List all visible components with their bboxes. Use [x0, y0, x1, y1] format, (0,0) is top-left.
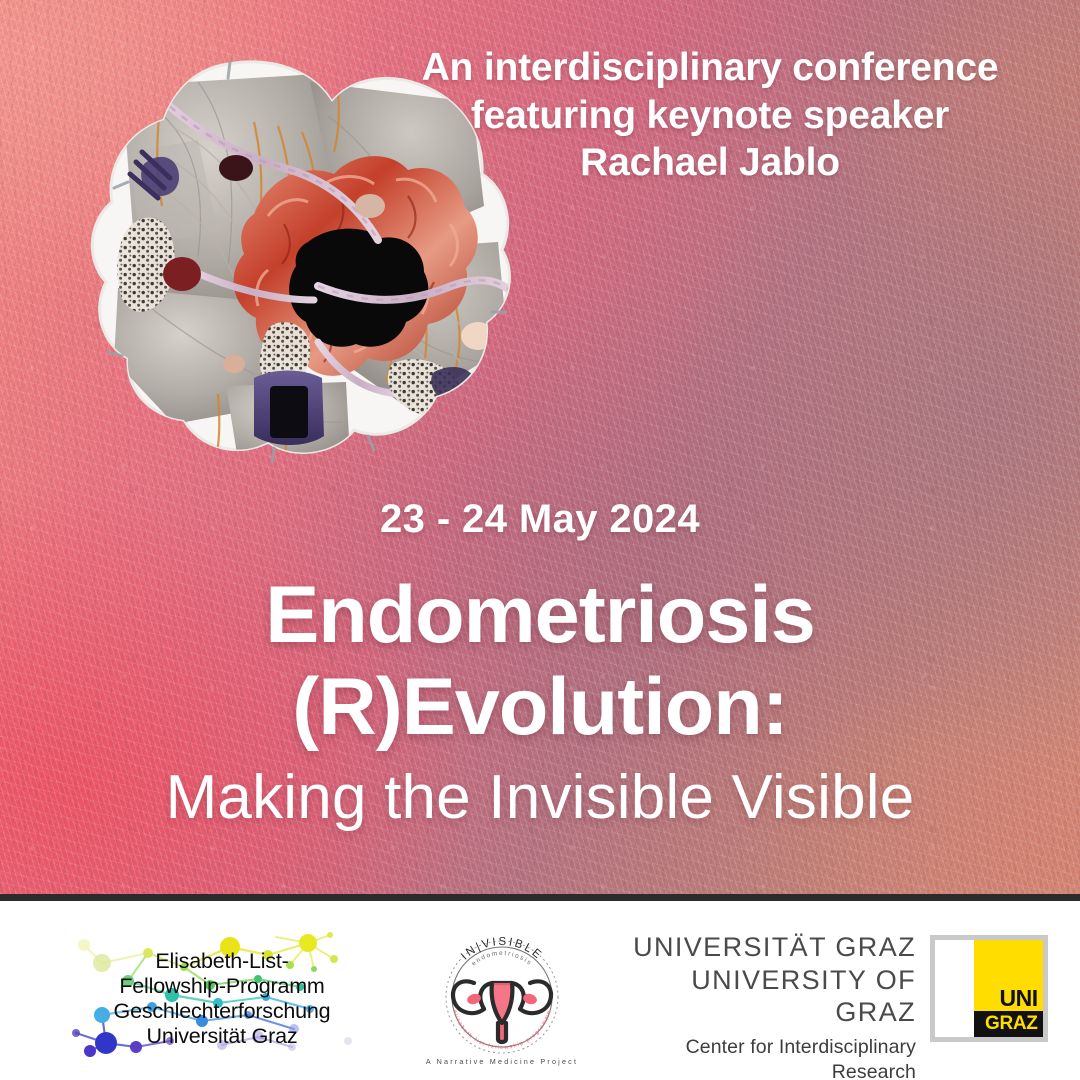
conference-poster: An interdisciplinary conference featurin…	[0, 0, 1080, 1080]
page-subtitle: Making the Invisible Visible	[0, 762, 1080, 833]
page-title: Endometriosis (R)Evolution:	[0, 570, 1080, 753]
elfp-line-2: Fellowship-Programm	[62, 974, 382, 999]
conference-header: An interdisciplinary conference featurin…	[370, 44, 1050, 187]
elfp-line-3: Geschlechterforschung	[62, 999, 382, 1024]
header-line-2: featuring keynote speaker	[370, 92, 1050, 140]
header-line-3: Rachael Jablo	[370, 139, 1050, 187]
sponsor-logo-bar: Elisabeth-List- Fellowship-Programm Gesc…	[0, 901, 1080, 1080]
unigraz-mark-uni-text: UNI	[978, 987, 1037, 1010]
elisabeth-list-fellowship-logo: Elisabeth-List- Fellowship-Programm Gesc…	[62, 929, 382, 1059]
elfp-line-1: Elisabeth-List-	[62, 949, 382, 974]
unigraz-mark-icon: UNI GRAZ	[930, 935, 1048, 1042]
conference-date: 23 - 24 May 2024	[0, 497, 1080, 542]
university-of-graz-logo: UNIVERSITÄT GRAZ UNIVERSITY OF GRAZ Cent…	[600, 931, 1048, 1049]
cirac-line-1: Center for Interdisciplinary Research	[606, 1035, 916, 1080]
title-line-2: (R)Evolution:	[0, 662, 1080, 754]
invisible-endometriosis-logo: IN|VISIBLE endometriosis elisabeth-list-…	[412, 921, 612, 1066]
invisible-tagline: A Narrative Medicine Project	[426, 1057, 578, 1066]
elfp-logo-text: Elisabeth-List- Fellowship-Programm Gesc…	[62, 949, 382, 1050]
title-line-1: Endometriosis	[0, 570, 1080, 662]
unigraz-text-block: UNIVERSITÄT GRAZ UNIVERSITY OF GRAZ Cent…	[606, 931, 916, 1080]
header-line-1: An interdisciplinary conference	[370, 44, 1050, 92]
footer-divider-rule	[0, 894, 1080, 901]
invisible-wordmark: IN|VISIBLE	[459, 936, 545, 963]
unigraz-mark-graz-text: GRAZ	[978, 1014, 1037, 1033]
unigraz-line-de: UNIVERSITÄT GRAZ	[606, 931, 916, 964]
elfp-line-4: Universität Graz	[62, 1024, 382, 1049]
unigraz-line-en: UNIVERSITY OF GRAZ	[606, 964, 916, 1029]
